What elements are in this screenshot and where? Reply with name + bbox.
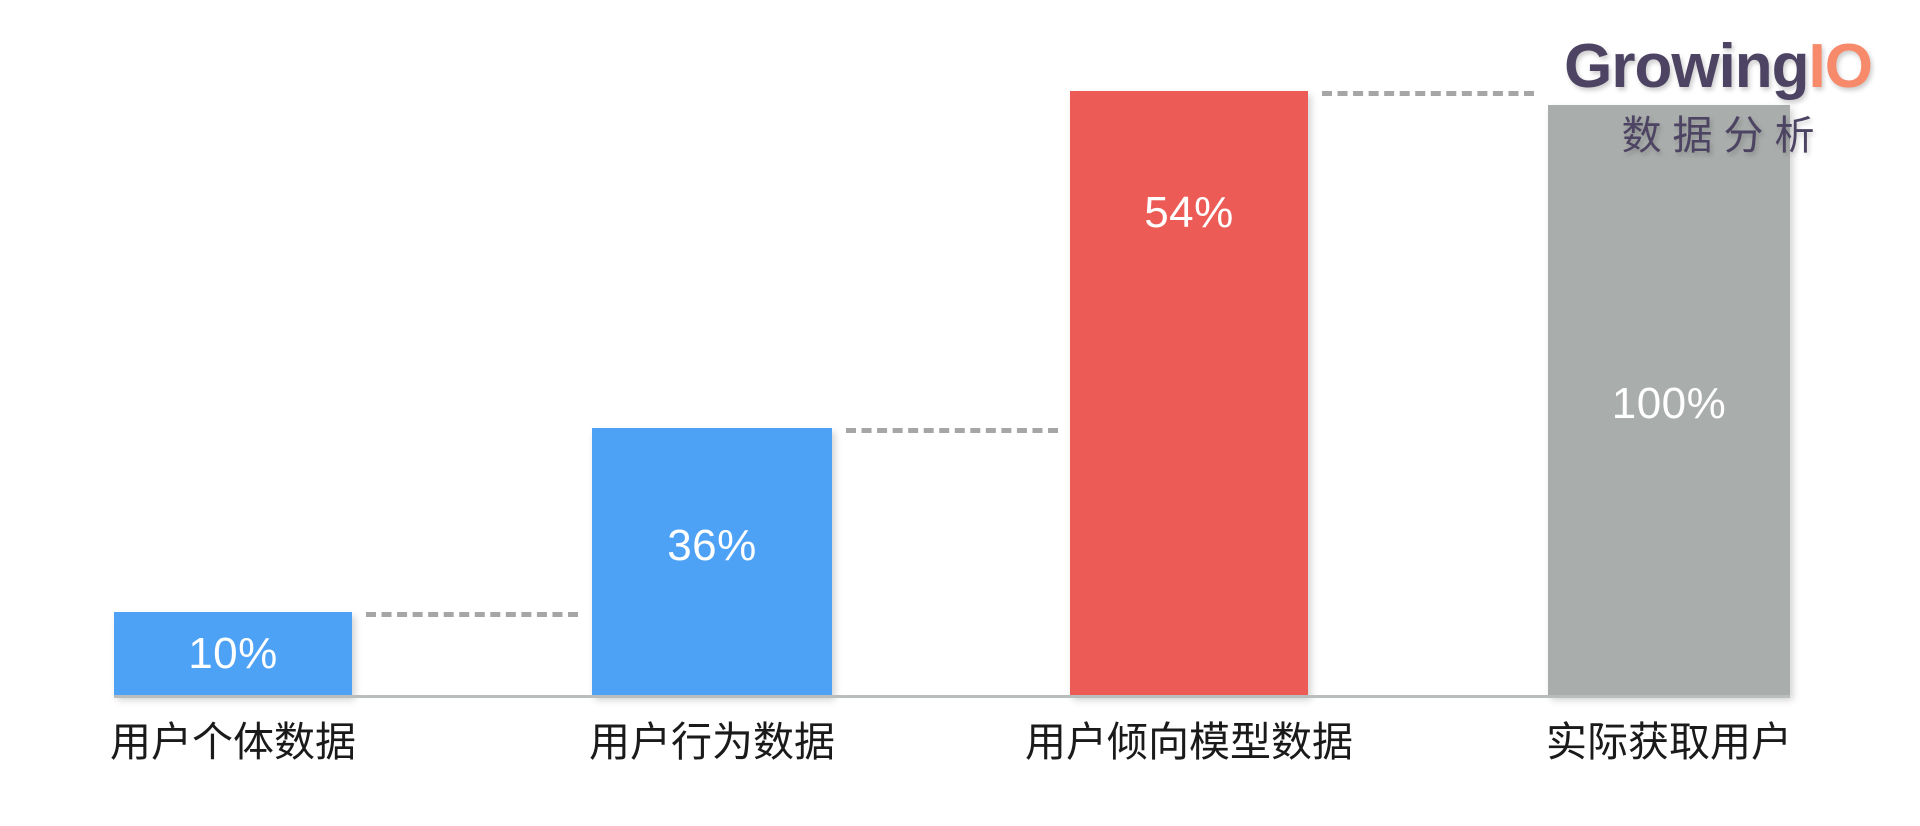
brand-wordmark: GrowingIO xyxy=(1564,34,1872,99)
brand-tagline: 数据分析 xyxy=(1564,103,1872,161)
chart-canvas: 10% 36% 54% 100% 用户个体数据 用户行为数据 用户倾向模型数据 … xyxy=(0,0,1920,826)
category-label-user-behavior-data: 用户行为数据 xyxy=(552,722,872,763)
category-label-user-propensity-model-data: 用户倾向模型数据 xyxy=(1024,722,1354,763)
connector-bar-3-to-bar-4 xyxy=(1322,91,1534,96)
bar-value-label: 36% xyxy=(592,524,832,568)
bar-user-behavior-data[interactable]: 36% xyxy=(592,428,832,696)
category-label-user-individual-data: 用户个体数据 xyxy=(73,722,393,763)
connector-bar-1-to-bar-2 xyxy=(366,612,578,617)
bar-value-label: 100% xyxy=(1548,382,1790,426)
bar-user-individual-data[interactable]: 10% xyxy=(114,612,352,696)
brand-wordmark-primary: Growing xyxy=(1564,32,1808,101)
baseline-axis xyxy=(114,695,1790,698)
bar-actual-acquired-users[interactable]: 100% xyxy=(1548,105,1790,696)
brand-logo: GrowingIO 数据分析 xyxy=(1564,34,1872,161)
brand-wordmark-accent: IO xyxy=(1809,32,1872,101)
category-label-actual-acquired-users: 实际获取用户 xyxy=(1509,722,1829,763)
bar-value-label: 10% xyxy=(114,632,352,676)
connector-bar-2-to-bar-3 xyxy=(846,428,1058,433)
bar-value-label: 54% xyxy=(1070,191,1308,235)
bar-user-propensity-model-data[interactable]: 54% xyxy=(1070,91,1308,696)
